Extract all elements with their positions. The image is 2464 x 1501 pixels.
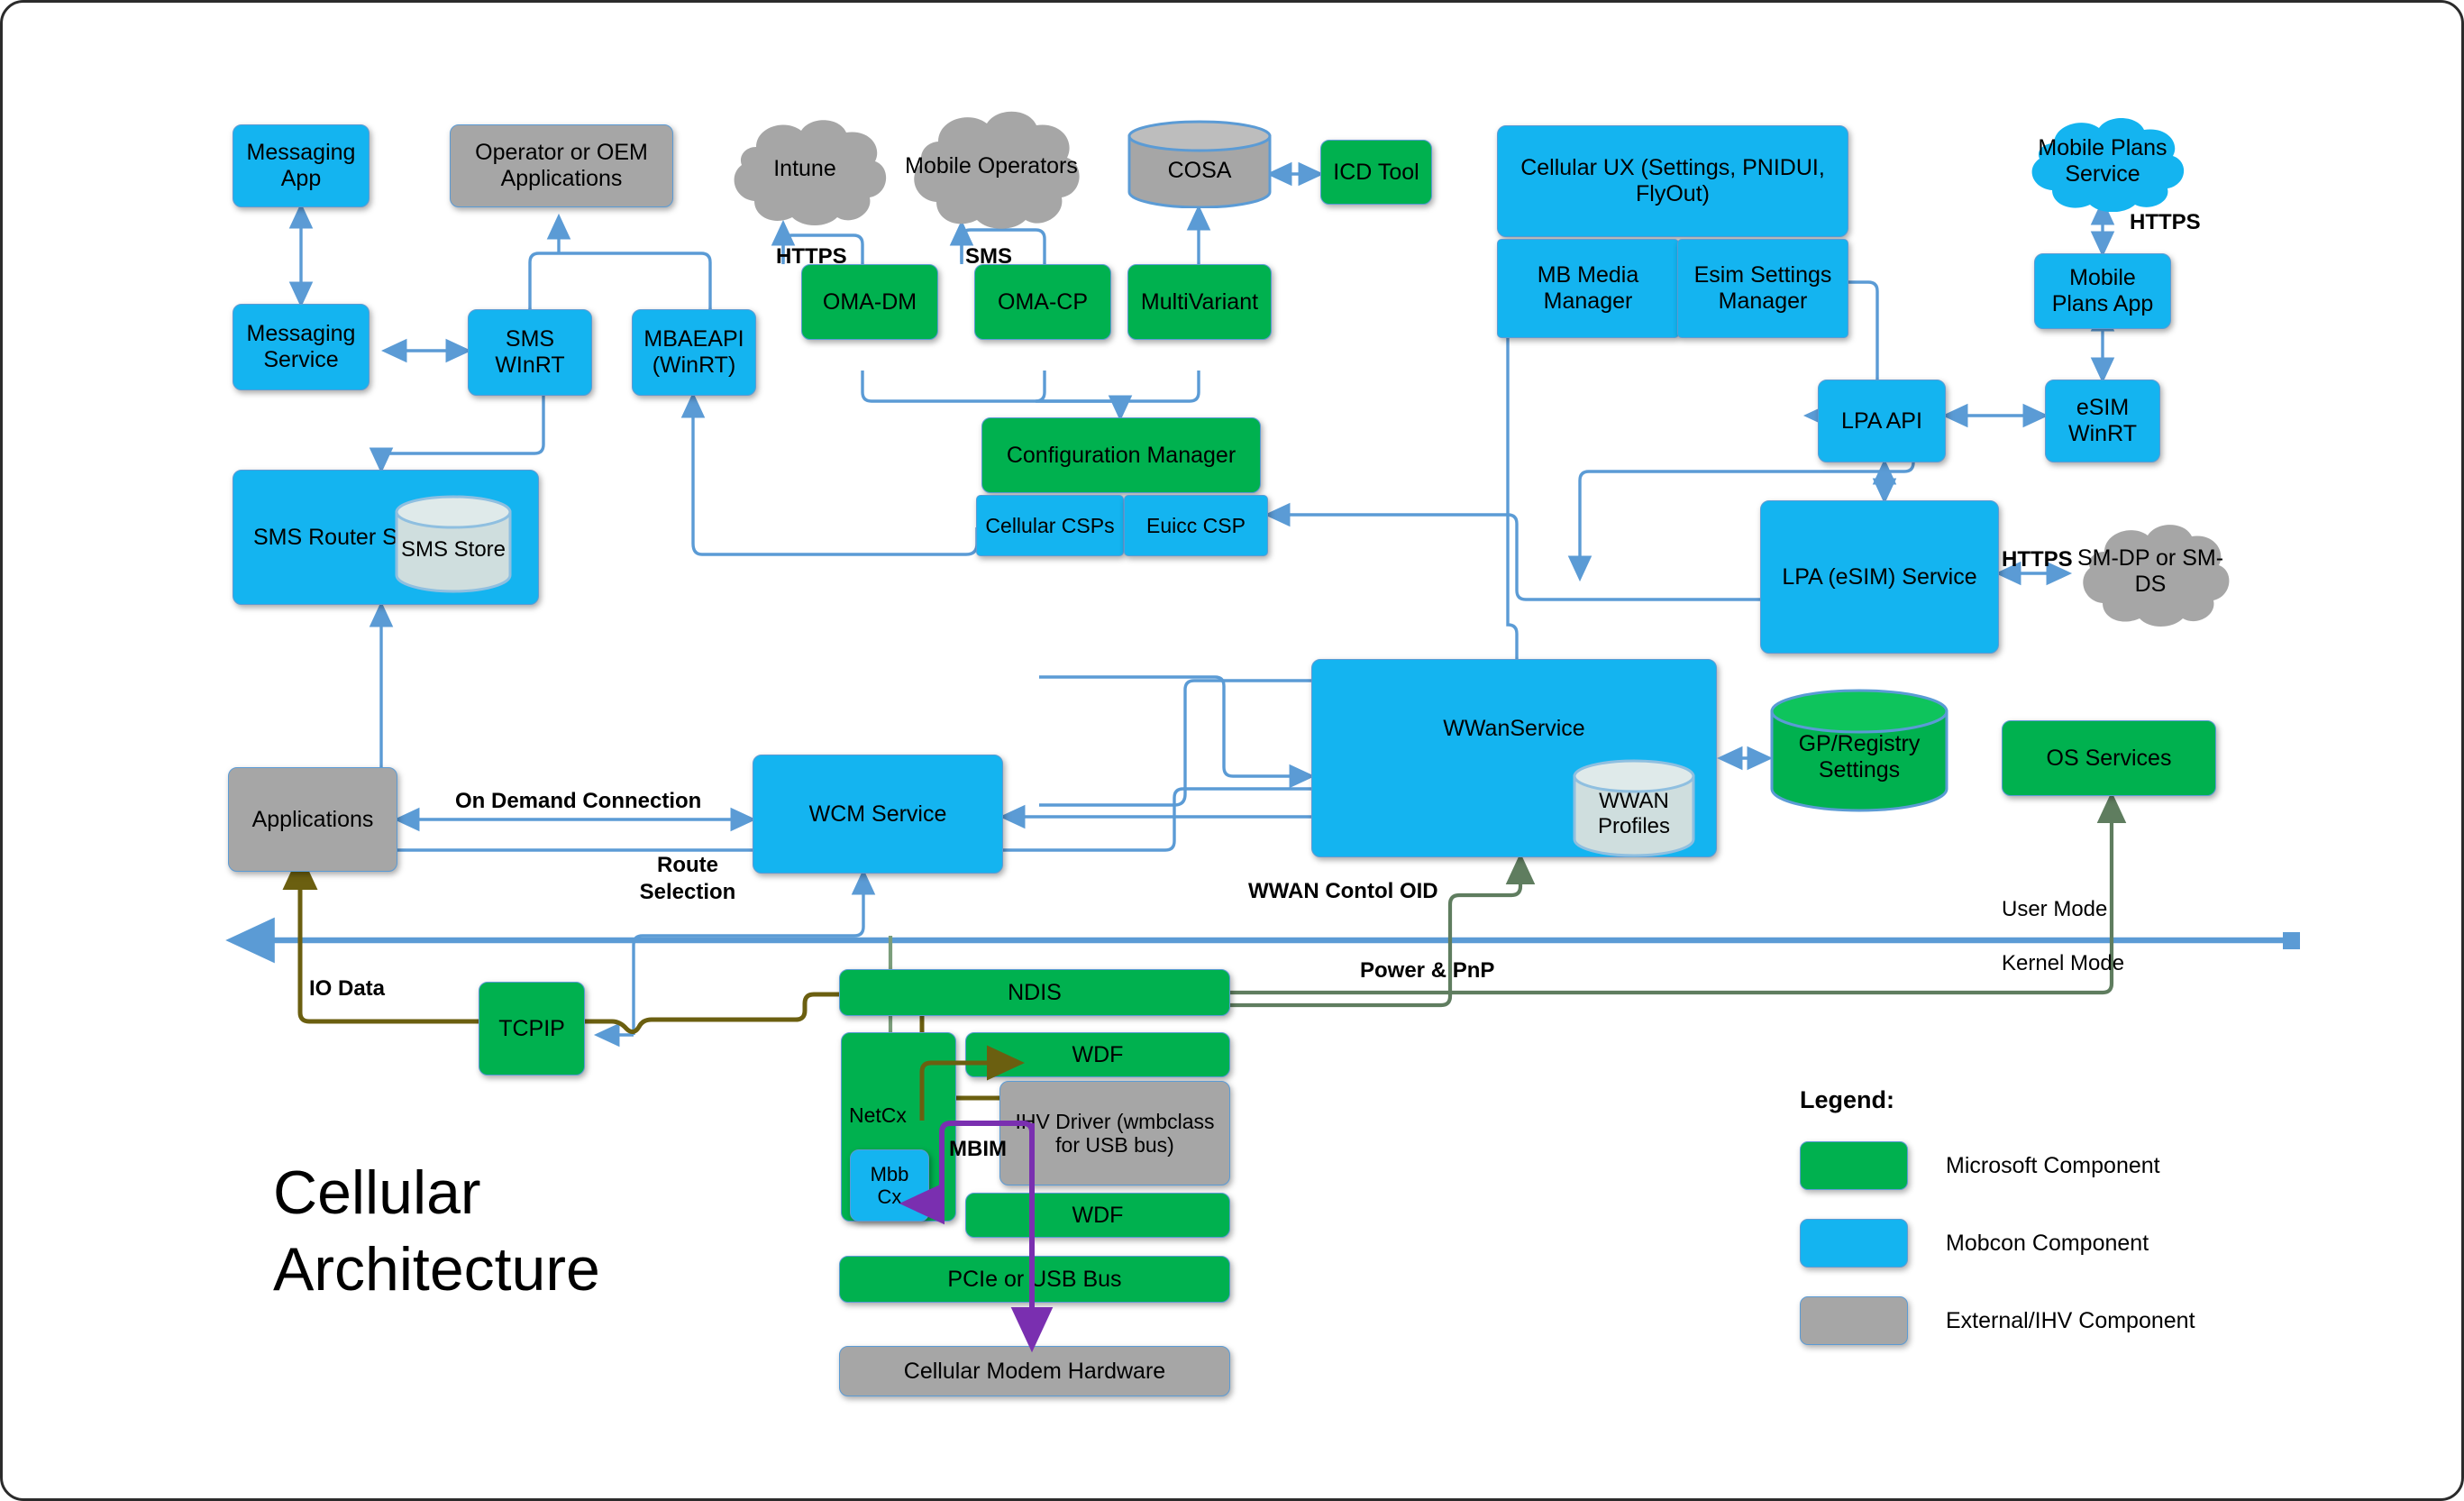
node-label: NetCx xyxy=(849,1103,907,1127)
node-label: ICD Tool xyxy=(1333,160,1419,186)
node-label: COSA xyxy=(1168,145,1232,184)
node-gp-registry-settings-database[interactable]: GP/Registry Settings xyxy=(1769,688,1949,814)
node-wcm-service[interactable]: WCM Service xyxy=(753,755,1003,874)
node-os-services[interactable]: OS Services xyxy=(2002,720,2216,796)
node-label: Applications xyxy=(252,807,374,833)
node-label: IHV Driver (wmbclass for USB bus) xyxy=(1006,1110,1224,1158)
node-label: WCM Service xyxy=(809,801,947,828)
node-label: GP/Registry Settings xyxy=(1769,718,1949,783)
cellular-architecture-diagram: .w { fill:none; stroke:#5b9bd5; stroke-w… xyxy=(0,0,2464,1501)
edge-label-route-selection: Route Selection xyxy=(634,852,742,906)
edge-label-io-data: IO Data xyxy=(309,976,385,1002)
legend-label: Mobcon Component xyxy=(1946,1231,2149,1257)
node-label: Intune xyxy=(766,156,844,182)
node-messaging-service[interactable]: Messaging Service xyxy=(233,304,370,390)
legend: Legend: Microsoft Component Mobcon Compo… xyxy=(1800,1086,2195,1374)
legend-label: Microsoft Component xyxy=(1946,1153,2160,1179)
node-esim-winrt[interactable]: eSIM WinRT xyxy=(2045,380,2160,462)
node-ndis[interactable]: NDIS xyxy=(839,969,1230,1016)
edge-label-power-pnp: Power & PnP xyxy=(1360,958,1494,984)
node-label: Configuration Manager xyxy=(1007,443,1236,469)
node-mb-media-manager[interactable]: MB Media Manager xyxy=(1497,239,1679,338)
node-label: OMA-CP xyxy=(998,289,1088,316)
node-label: Mobile Plans App xyxy=(2040,265,2165,317)
node-wdf-upper[interactable]: WDF xyxy=(965,1032,1230,1077)
legend-title: Legend: xyxy=(1800,1086,2195,1114)
node-cellular-csps[interactable]: Cellular CSPs xyxy=(976,495,1124,556)
legend-swatch-mobcon xyxy=(1800,1219,1908,1268)
node-pcie-or-usb-bus[interactable]: PCIe or USB Bus xyxy=(839,1256,1230,1303)
node-label: WWanService xyxy=(1443,716,1584,742)
node-mbaeapi-winrt[interactable]: MBAEAPI (WinRT) xyxy=(632,309,756,396)
legend-label: External/IHV Component xyxy=(1946,1308,2195,1334)
node-label: Messaging Service xyxy=(239,321,363,373)
node-oma-dm[interactable]: OMA-DM xyxy=(801,264,938,340)
node-label: SMS Store xyxy=(401,525,506,563)
node-label: Cellular Modem Hardware xyxy=(904,1359,1165,1385)
node-euicc-csp[interactable]: Euicc CSP xyxy=(1124,495,1268,556)
edge-label-mbim: MBIM xyxy=(949,1137,1007,1162)
legend-swatch-microsoft xyxy=(1800,1141,1908,1190)
node-wdf-lower[interactable]: WDF xyxy=(965,1193,1230,1238)
legend-item-external: External/IHV Component xyxy=(1800,1296,2195,1345)
node-label: OMA-DM xyxy=(823,289,917,316)
node-mobile-operators-cloud[interactable]: Mobile Operators xyxy=(893,102,1090,230)
node-configuration-manager[interactable]: Configuration Manager xyxy=(981,417,1261,493)
node-label: SM-DP or SM-DS xyxy=(2065,545,2236,598)
node-label: TCPIP xyxy=(498,1016,565,1042)
node-label: WDF xyxy=(1072,1042,1124,1068)
node-applications[interactable]: Applications xyxy=(228,767,397,872)
node-mobile-plans-app[interactable]: Mobile Plans App xyxy=(2034,253,2171,329)
node-label: Messaging App xyxy=(239,140,363,192)
node-label: Cellular UX (Settings, PNIDUI, FlyOut) xyxy=(1503,155,1842,207)
node-label: NDIS xyxy=(1008,980,1062,1006)
node-wwan-profiles-database[interactable]: WWAN Profiles xyxy=(1573,758,1695,857)
node-cosa-database[interactable]: COSA xyxy=(1127,120,1272,208)
edge-label-https-mobile-plans: HTTPS xyxy=(2130,210,2201,235)
node-label: PCIe or USB Bus xyxy=(947,1267,1121,1293)
node-label: Mobile Plans Service xyxy=(2012,135,2193,188)
node-multivariant[interactable]: MultiVariant xyxy=(1127,264,1272,340)
page-title: Cellular Architecture xyxy=(273,1155,600,1308)
node-cellular-ux[interactable]: Cellular UX (Settings, PNIDUI, FlyOut) xyxy=(1497,125,1848,237)
node-label: SMS WInRT xyxy=(474,326,586,379)
node-intune-cloud[interactable]: Intune xyxy=(715,111,895,226)
node-sm-dp-or-sm-ds-cloud[interactable]: SM-DP or SM-DS xyxy=(2065,517,2236,627)
node-cellular-modem-hardware[interactable]: Cellular Modem Hardware xyxy=(839,1346,1230,1396)
node-label: MB Media Manager xyxy=(1503,262,1673,315)
node-label: WWAN Profiles xyxy=(1573,776,1695,838)
node-sms-store-database[interactable]: SMS Store xyxy=(395,494,512,593)
node-label: eSIM WinRT xyxy=(2051,395,2154,447)
node-label: WDF xyxy=(1072,1203,1124,1229)
edge-label-wwan-control-oid: WWAN Contol OID xyxy=(1248,879,1438,904)
node-esim-settings-manager[interactable]: Esim Settings Manager xyxy=(1677,239,1848,338)
edge-label-sms-operators: SMS xyxy=(965,244,1012,270)
edge-label-https-intune: HTTPS xyxy=(776,244,847,270)
node-sms-winrt[interactable]: SMS WInRT xyxy=(468,309,592,396)
node-mbb-cx[interactable]: Mbb Cx xyxy=(850,1149,929,1222)
node-lpa-esim-service[interactable]: LPA (eSIM) Service xyxy=(1760,500,1999,654)
node-label: MBAEAPI (WinRT) xyxy=(638,326,750,379)
node-label: Mobile Operators xyxy=(898,153,1085,179)
node-lpa-api[interactable]: LPA API xyxy=(1818,380,1946,462)
node-label: Mbb Cx xyxy=(856,1163,923,1209)
edge-label-user-mode: User Mode xyxy=(2002,897,2107,922)
node-oma-cp[interactable]: OMA-CP xyxy=(974,264,1111,340)
node-label: Euicc CSP xyxy=(1146,514,1246,537)
edge-label-kernel-mode: Kernel Mode xyxy=(2002,951,2124,976)
legend-swatch-external xyxy=(1800,1296,1908,1345)
node-ihv-driver[interactable]: IHV Driver (wmbclass for USB bus) xyxy=(999,1081,1230,1185)
node-label: Cellular CSPs xyxy=(985,514,1114,537)
node-operator-oem-applications[interactable]: Operator or OEM Applications xyxy=(450,124,673,207)
node-mobile-plans-service-cloud[interactable]: Mobile Plans Service xyxy=(2012,111,2193,212)
edge-label-on-demand-connection: On Demand Connection xyxy=(455,789,701,814)
legend-item-microsoft: Microsoft Component xyxy=(1800,1141,2195,1190)
node-label: OS Services xyxy=(2047,746,2172,772)
node-messaging-app[interactable]: Messaging App xyxy=(233,124,370,207)
legend-item-mobcon: Mobcon Component xyxy=(1800,1219,2195,1268)
node-label: LPA (eSIM) Service xyxy=(1782,564,1976,590)
node-label: LPA API xyxy=(1841,408,1922,435)
node-icd-tool[interactable]: ICD Tool xyxy=(1320,140,1432,205)
node-label: MultiVariant xyxy=(1141,289,1258,316)
node-label: Operator or OEM Applications xyxy=(456,140,667,192)
edge-label-https-smdp: HTTPS xyxy=(2002,547,2073,572)
node-tcpip[interactable]: TCPIP xyxy=(479,982,585,1075)
node-label: Esim Settings Manager xyxy=(1684,262,1842,315)
